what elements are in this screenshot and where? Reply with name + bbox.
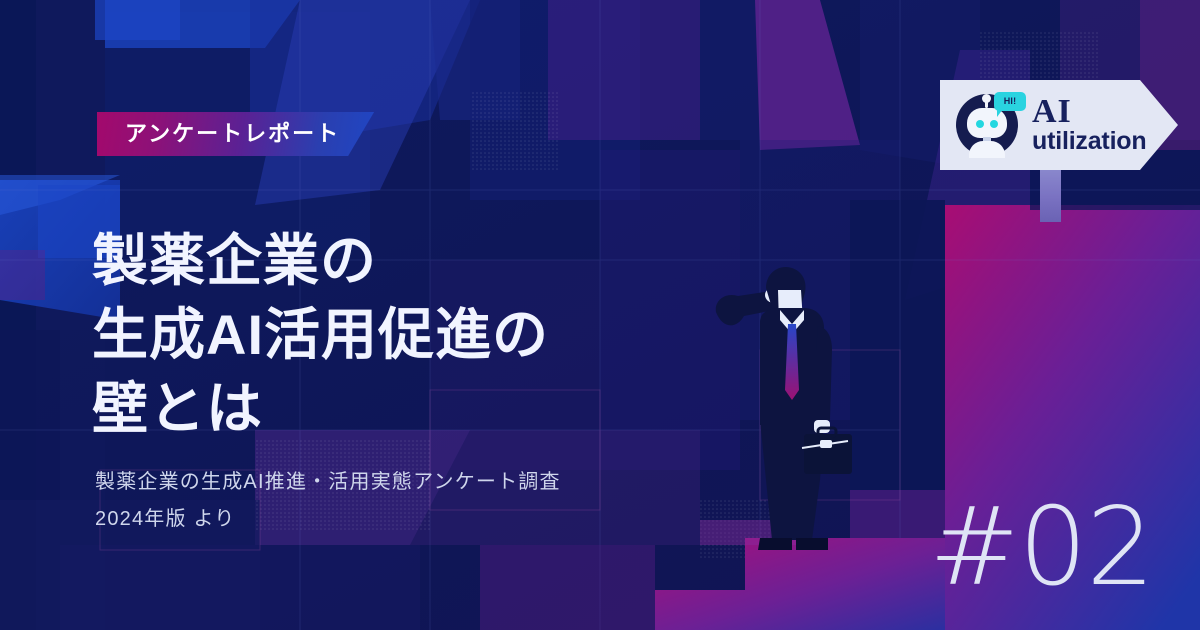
robot-antenna-tip-icon [982, 94, 991, 103]
ai-utilization-sign: HI! AI utilization [940, 80, 1178, 170]
robot-eye-left-icon [976, 120, 984, 128]
banner-canvas: アンケートレポート 製薬企業の 生成AI活用促進の 壁とは 製薬企業の生成AI推… [0, 0, 1200, 630]
issue-number: #02 [929, 494, 1154, 602]
robot-body-icon [969, 141, 1005, 158]
page-title-line-2: 生成AI活用促進の [92, 298, 732, 372]
report-badge-label: アンケートレポート [125, 123, 340, 145]
page-subtitle: 製薬企業の生成AI推進・活用実態アンケート調査 2024年版 より [95, 464, 735, 538]
page-title: 製薬企業の 生成AI活用促進の 壁とは [92, 224, 732, 447]
report-badge: アンケートレポート [97, 112, 374, 156]
robot-eye-right-icon [990, 120, 998, 128]
speech-bubble-icon: HI! [994, 92, 1026, 111]
speech-bubble-label: HI! [1004, 97, 1017, 106]
page-title-line-1: 製薬企業の [92, 224, 732, 298]
robot-icon: HI! [956, 94, 1018, 156]
sign-subtitle: utilization [1032, 128, 1146, 154]
page-title-line-3: 壁とは [92, 372, 732, 446]
page-subtitle-line-2: 2024年版 より [95, 501, 735, 538]
page-subtitle-line-1: 製薬企業の生成AI推進・活用実態アンケート調査 [95, 464, 735, 501]
sign-title: AI [1032, 96, 1146, 128]
sign-text-group: AI utilization [1032, 96, 1146, 155]
